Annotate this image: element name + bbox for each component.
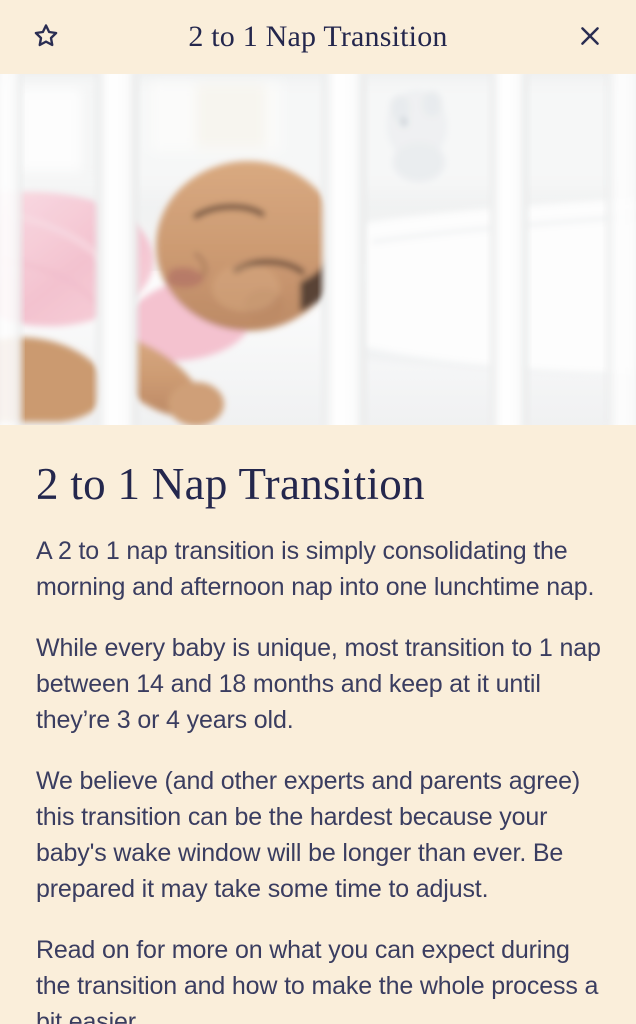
favorite-button[interactable]: [24, 15, 68, 59]
star-outline-icon: [31, 21, 61, 54]
header-title: 2 to 1 Nap Transition: [0, 20, 636, 54]
close-button[interactable]: [568, 15, 612, 59]
header-bar: 2 to 1 Nap Transition: [0, 0, 636, 74]
close-icon: [577, 23, 603, 52]
article-title: 2 to 1 Nap Transition: [36, 458, 602, 510]
hero-image: [0, 74, 636, 425]
hero-illustration: [0, 74, 636, 425]
article-screen: 2 to 1 Nap Transition: [0, 0, 636, 1024]
article-paragraph-2: While every baby is unique, most transit…: [36, 630, 602, 738]
article-paragraph-4: Read on for more on what you can expect …: [36, 932, 602, 1024]
article-content: 2 to 1 Nap Transition A 2 to 1 nap trans…: [0, 425, 636, 1024]
article-paragraph-3: We believe (and other experts and parent…: [36, 763, 602, 907]
article-paragraph-1: A 2 to 1 nap transition is simply consol…: [36, 533, 602, 605]
